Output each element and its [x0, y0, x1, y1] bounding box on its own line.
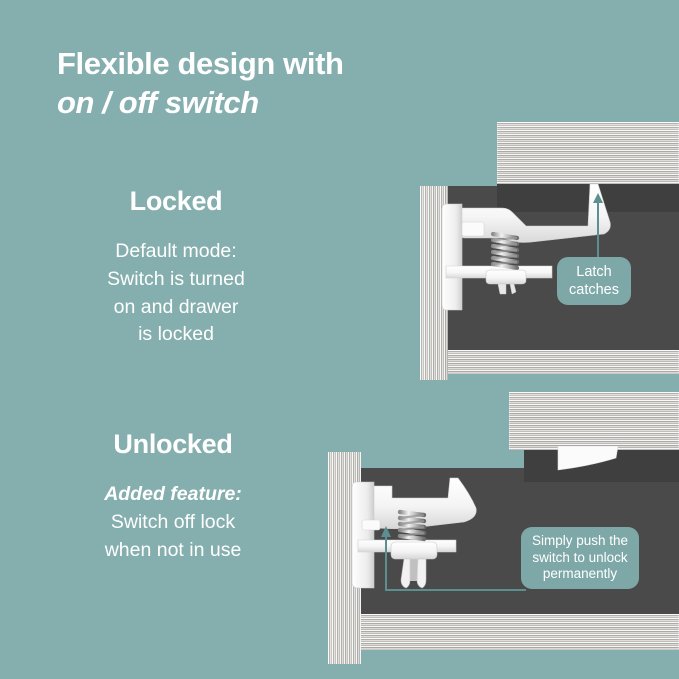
unlocked-body-emphasis: Added feature:: [23, 481, 323, 509]
unlocked-body-line-2: when not in use: [23, 537, 323, 565]
locked-body-line-1: Default mode:: [26, 238, 326, 266]
title-line-2: on / off switch: [57, 85, 397, 122]
latch-base-locked: [442, 204, 462, 310]
locked-body-line-2: Switch is turned: [26, 266, 326, 294]
cabinet-shelf-unlocked: [355, 614, 679, 650]
arrow-up-icon: [593, 193, 603, 203]
section-locked-heading: Locked: [26, 185, 326, 217]
latch-base-unlocked: [352, 482, 374, 588]
section-unlocked-body: Added feature: Switch off lock when not …: [23, 481, 323, 564]
drawer-front-locked: [497, 122, 679, 184]
switch-pin-locked: [498, 284, 516, 294]
callout-latch-line-1: Latch: [569, 263, 619, 281]
callout-connector-latch: [588, 190, 608, 260]
unlocked-body-line-1: Switch off lock: [23, 509, 323, 537]
callout-push-line-3: permanently: [532, 566, 628, 583]
page-title: Flexible design with on / off switch: [57, 46, 397, 121]
locked-body-line-4: is locked: [26, 321, 326, 349]
arrow-up-icon-2: [381, 526, 391, 537]
latch-catch-tab-unlocked: [556, 446, 636, 486]
section-unlocked: Unlocked Added feature: Switch off lock …: [23, 428, 323, 564]
cabinet-shelf-locked: [447, 350, 679, 374]
locked-body-line-3: on and drawer: [26, 294, 326, 322]
callout-latch-catches: Latch catches: [557, 257, 631, 305]
latch-notch-locked: [462, 222, 484, 236]
drawer-front-unlocked: [509, 392, 679, 450]
section-locked: Locked Default mode: Switch is turned on…: [26, 185, 326, 349]
callout-connector-push: [378, 520, 528, 596]
callout-push-line-1: Simply push the: [532, 533, 628, 550]
section-unlocked-heading: Unlocked: [23, 428, 323, 460]
callout-latch-line-2: catches: [569, 281, 619, 299]
section-locked-body: Default mode: Switch is turned on and dr…: [26, 238, 326, 349]
switch-button-locked[interactable]: [486, 270, 526, 284]
callout-push-line-2: switch to unlock: [532, 550, 628, 567]
infographic-canvas: Flexible design with on / off switch Loc…: [0, 0, 679, 679]
callout-push-switch: Simply push the switch to unlock permane…: [521, 527, 639, 589]
title-line-1: Flexible design with: [57, 46, 397, 83]
